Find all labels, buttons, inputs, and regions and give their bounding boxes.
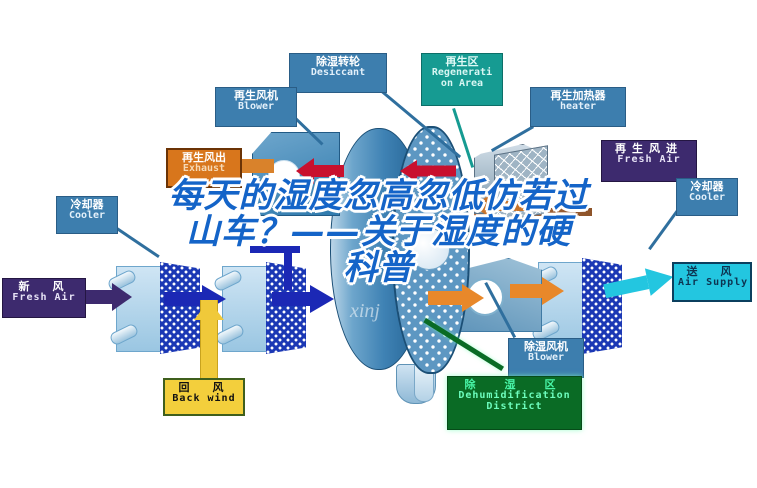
- label-regeneration-heater: 再生加热器 heater: [530, 87, 626, 127]
- desiccant-wheel-hub: [408, 228, 450, 270]
- label-cooler-right-en: Cooler: [681, 193, 733, 204]
- label-dehumidification-district-en-2: District: [452, 402, 577, 413]
- flow-regen-through-wheel-arrow: [400, 160, 456, 182]
- label-regeneration-blower-en: Blower: [220, 102, 292, 113]
- label-cooler-right: 冷却器 Cooler: [676, 178, 738, 216]
- label-cooler-left: 冷却器 Cooler: [56, 196, 118, 234]
- flow-coil-connector-top: [250, 246, 300, 253]
- label-regeneration-area-en-2: on Area: [426, 79, 498, 90]
- flow-back-wind-up-arrow: [192, 300, 226, 378]
- label-dehumidify-blower-en: Blower: [513, 353, 579, 364]
- label-back-wind: 回 风 Back wind: [163, 378, 245, 416]
- flow-fresh-air-in-arrow: [84, 282, 132, 312]
- label-regeneration-area: 再生区 Regenerati on Area: [421, 53, 503, 106]
- label-regeneration-air-inlet: 再生风进 Fresh Air: [601, 140, 697, 182]
- dehumidifier-schematic-diagram: xinj 除湿转轮 Desiccant 再生风机 Blower 再生区 Rege…: [0, 0, 757, 488]
- flow-regen-heater-in-arrow: [472, 196, 530, 216]
- flow-wheel-to-blower-arrow: [510, 278, 564, 304]
- label-air-supply: 送 风 Air Supply: [672, 262, 752, 302]
- label-fresh-air-inlet: 新 风 Fresh Air: [2, 278, 86, 318]
- label-cooler-left-en: Cooler: [61, 211, 113, 222]
- label-dehumidification-district: 除 湿 区 Dehumidification District: [447, 376, 582, 430]
- label-back-wind-en: Back wind: [169, 394, 239, 405]
- label-desiccant-wheel-en: Desiccant: [294, 68, 382, 79]
- label-dehumidify-blower: 除湿风机 Blower: [508, 338, 584, 378]
- label-regeneration-heater-en: heater: [535, 102, 621, 113]
- flow-into-wheel-arrow: [428, 284, 484, 312]
- label-regeneration-air-inlet-en: Fresh Air: [606, 155, 692, 166]
- watermark: xinj: [350, 300, 380, 323]
- label-regeneration-blower: 再生风机 Blower: [215, 87, 297, 127]
- flow-regen-into-blower-arrow: [296, 158, 344, 184]
- label-fresh-air-inlet-en: Fresh Air: [7, 293, 81, 304]
- label-exhaust-en: Exhaust: [172, 164, 236, 175]
- label-exhaust: 再生风出 Exhaust: [166, 148, 242, 188]
- label-desiccant-wheel: 除湿转轮 Desiccant: [289, 53, 387, 93]
- label-air-supply-en: Air Supply: [678, 278, 746, 289]
- flow-cooler-2-out-arrow: [272, 284, 334, 314]
